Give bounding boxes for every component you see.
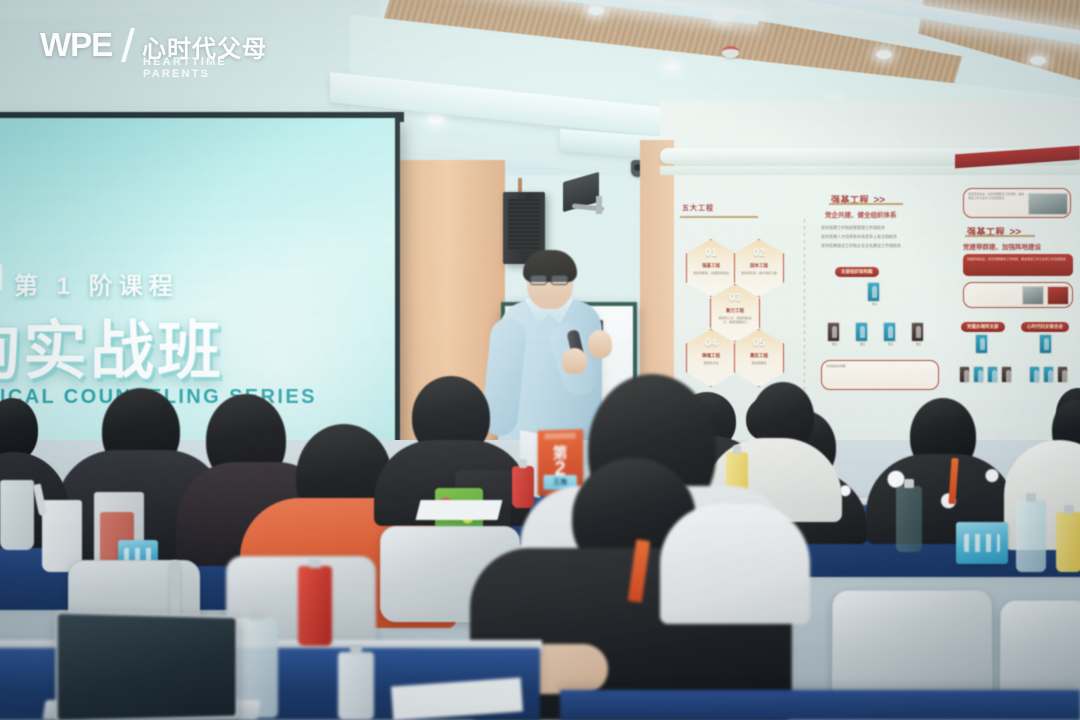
org-node-small bbox=[973, 366, 984, 383]
org-node-member: 委员 bbox=[855, 322, 868, 342]
hexagon-body: 党建带服务 bbox=[740, 361, 778, 365]
org-node-group-a-lead bbox=[975, 334, 988, 354]
ceiling-downlight bbox=[1030, 56, 1046, 65]
audience-torso bbox=[660, 504, 810, 624]
wall-photo-thumbnail bbox=[1028, 193, 1068, 215]
wall-panel-org-chart-title: 支部组织架构图 bbox=[835, 267, 879, 277]
org-node-member: 委员 bbox=[911, 322, 924, 342]
wall-panel-dash-divider bbox=[804, 219, 805, 419]
wall-panel-right-redbar: 加强阵地建设，完善党群服务工作机制，推进党建工作与业务工作深度融合 bbox=[963, 254, 1073, 276]
ceiling-downlight bbox=[428, 114, 444, 123]
org-node-member: 委员 bbox=[827, 322, 840, 342]
org-node-label: 委员 bbox=[882, 342, 899, 346]
screen-eyebrow-tag bbox=[0, 264, 2, 290]
presenter-hand-mic bbox=[562, 348, 587, 374]
org-node-small bbox=[987, 366, 998, 383]
chair-right-1[interactable] bbox=[832, 590, 992, 702]
org-node-group-b-lead bbox=[1039, 334, 1052, 354]
org-node-leader: 书记 bbox=[867, 282, 880, 302]
projector-wall-mount bbox=[596, 196, 602, 214]
water-bottle-clear bbox=[1016, 500, 1046, 572]
cup-front bbox=[338, 652, 374, 720]
wall-panel-mid-bullet: 坚持党建人才培养和市场竞争上有式相结合 bbox=[821, 234, 941, 240]
tumbler-left-edge bbox=[0, 480, 34, 550]
hexagon-label: 铸魂工程 bbox=[687, 353, 735, 359]
drink-can-red bbox=[512, 466, 534, 508]
org-node-label: 书记 bbox=[866, 302, 883, 306]
drink-bottle-yellow bbox=[1056, 512, 1080, 572]
wall-panel-left-underline bbox=[680, 216, 758, 218]
projection-screen: 第 1 阶课程 询实战班 OGICAL COUNSELING SERIES 月 … bbox=[0, 118, 400, 458]
table-front-right-cloth bbox=[560, 690, 1080, 720]
wall-panel-mid-underline bbox=[829, 203, 903, 205]
hexagon-label: 固本工程 bbox=[735, 263, 783, 269]
hexagon-number: 03 bbox=[711, 292, 759, 304]
ceiling-downlight bbox=[876, 50, 892, 59]
org-node-small bbox=[1057, 366, 1068, 383]
org-node-small bbox=[959, 366, 970, 383]
wall-photo-thumbnail bbox=[1022, 286, 1044, 305]
org-node-small bbox=[1001, 366, 1012, 383]
table-tent-header-strip bbox=[544, 433, 576, 440]
wall-panel-right-subtitle: 党建带群建、加强阵地建设 bbox=[963, 241, 1041, 251]
wall-panel-right-note: 加强阵地建设，完善党群服务工作机制，推进党建工作与业务工作深度融合 bbox=[968, 193, 1026, 201]
wall-photo-thumbnail bbox=[1047, 286, 1069, 305]
hexagon-number: 01 bbox=[687, 247, 735, 259]
conference-room-photo: 五大工程 01 强基工程 党建带群建、加强阵地建设 02 固本工程 党建带队建、… bbox=[0, 0, 1080, 720]
hexagon-body: 党建带群建、加强阵地建设 bbox=[692, 271, 730, 275]
hexagon-body: 党建带文化 bbox=[692, 361, 730, 365]
wall-panel-right-photo-box: 加强阵地建设，完善党群服务工作机制，推进党建工作与业务工作深度融合 bbox=[963, 188, 1071, 218]
org-node-label: 委员 bbox=[854, 342, 871, 346]
org-node-small bbox=[1043, 366, 1054, 383]
wall-panel-mid-bullet: 坚持党建工作和经营管理工作相结合 bbox=[821, 225, 941, 231]
watermark-logo: WPE 心时代父母 HEARTTIME PARENTS bbox=[40, 26, 270, 74]
screen-title: 询实战班 bbox=[0, 300, 224, 392]
notebook-page bbox=[416, 500, 503, 520]
wall-panel-right-underline bbox=[965, 235, 1035, 237]
drink-can-red-front bbox=[298, 566, 332, 646]
watermark-slash-icon bbox=[121, 28, 135, 62]
org-node-label: 委员 bbox=[910, 342, 927, 346]
smoke-detector-icon bbox=[722, 46, 739, 58]
hexagon-label: 聚力工程 bbox=[711, 308, 759, 314]
tissue-box bbox=[956, 522, 1008, 564]
wall-panel-mid-note-box: 支部组织架构图 bbox=[821, 360, 939, 390]
ceiling-downlight bbox=[715, 12, 731, 21]
laptop-screen[interactable] bbox=[56, 612, 238, 720]
wall-group-b-label: 心时代妇女联合会 bbox=[1021, 322, 1069, 332]
ceiling-downlight bbox=[588, 6, 604, 15]
hexagon-number: 05 bbox=[735, 337, 783, 349]
presenter-hand-gesture bbox=[588, 330, 612, 358]
wall-panel-mid-note: 支部组织架构图 bbox=[826, 365, 934, 369]
hexagon-label: 强基工程 bbox=[687, 263, 735, 269]
wall-panel-mid-bullet: 坚持党建政治工作和企业文化建设工作相结合 bbox=[821, 243, 941, 249]
hexagon-body: 党建带人才、激发创新活力、凝聚发展合力 bbox=[716, 316, 754, 324]
wall-panel-mid-subtitle: 党企共建、健全组织体系 bbox=[825, 209, 897, 219]
screen-eyebrow-text: 第 1 阶课程 bbox=[14, 266, 179, 301]
presenter-glasses-left-lens bbox=[530, 275, 547, 285]
hexagon-number: 02 bbox=[735, 247, 783, 259]
watermark-brand: WPE bbox=[40, 26, 112, 64]
hexagon-number: 04 bbox=[687, 337, 735, 349]
ceiling-downlight bbox=[664, 62, 680, 71]
presenter-glasses-right-lens bbox=[551, 275, 568, 285]
org-node-label: 委员 bbox=[826, 342, 843, 346]
hexagon-label: 惠民工程 bbox=[735, 353, 783, 359]
wall-panel-right-photo-box-2 bbox=[963, 282, 1073, 308]
wall-group-a-label: 党建办理阵支部 bbox=[961, 322, 1005, 332]
wall-panel-left-title: 五大工程 bbox=[682, 203, 714, 213]
org-node-member: 委员 bbox=[883, 322, 896, 342]
watermark-english: HEARTTIME PARENTS bbox=[143, 56, 270, 80]
org-node-small bbox=[1029, 366, 1040, 383]
hexagon-body: 党建带队建、提升组织力量 bbox=[740, 271, 778, 275]
water-bottle-tea bbox=[896, 486, 922, 552]
